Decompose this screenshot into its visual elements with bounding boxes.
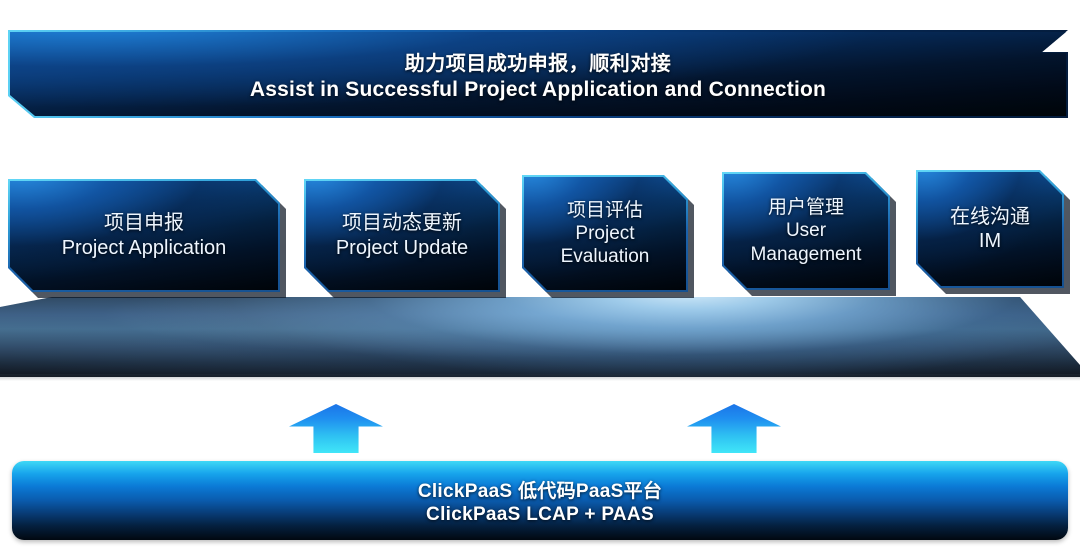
capability-label: 项目动态更新 Project Update <box>304 179 500 292</box>
capability-label: 在线沟通 IM <box>916 170 1064 288</box>
capability-label-cn: 用户管理 <box>768 196 844 219</box>
capability-label-cn: 项目申报 <box>104 211 184 235</box>
capability-label-en: Project <box>575 222 634 245</box>
capability-label-cn: 在线沟通 <box>950 205 1030 229</box>
banner-title-en: Assist in Successful Project Application… <box>250 78 826 102</box>
capability-box-project-update[interactable]: 项目动态更新 Project Update <box>304 179 500 292</box>
capability-label: 项目申报 Project Application <box>8 179 280 292</box>
capability-label-cn: 项目评估 <box>567 199 643 222</box>
slide-canvas: 助力项目成功申报，顺利对接 Assist in Successful Proje… <box>0 0 1080 553</box>
up-arrow-icon-right <box>687 404 781 453</box>
footer-title-cn: ClickPaaS 低代码PaaS平台 <box>418 476 662 503</box>
up-arrow-icon-left <box>289 404 383 453</box>
capability-label-en: User <box>786 219 826 242</box>
banner-text-group: 助力项目成功申报，顺利对接 Assist in Successful Proje… <box>8 30 1068 118</box>
platform-shadow <box>0 374 1080 381</box>
capability-label-en2: Evaluation <box>561 245 650 268</box>
capability-box-project-evaluation[interactable]: 项目评估 Project Evaluation <box>522 175 688 292</box>
footer-text-group: ClickPaaS 低代码PaaS平台 ClickPaaS LCAP + PAA… <box>12 461 1068 540</box>
header-banner: 助力项目成功申报，顺利对接 Assist in Successful Proje… <box>8 30 1068 118</box>
capability-box-user-management[interactable]: 用户管理 User Management <box>722 172 890 290</box>
capability-label-en: IM <box>979 229 1001 253</box>
capability-label-en: Project Application <box>62 236 227 260</box>
capability-label: 项目评估 Project Evaluation <box>522 175 688 292</box>
capability-label-en: Project Update <box>336 236 468 260</box>
capability-box-project-application[interactable]: 项目申报 Project Application <box>8 179 280 292</box>
capability-label-cn: 项目动态更新 <box>342 211 462 235</box>
banner-title-cn: 助力项目成功申报，顺利对接 <box>405 47 672 76</box>
platform-footer-bar[interactable]: ClickPaaS 低代码PaaS平台 ClickPaaS LCAP + PAA… <box>12 461 1068 540</box>
capability-box-im[interactable]: 在线沟通 IM <box>916 170 1064 288</box>
capability-label: 用户管理 User Management <box>722 172 890 290</box>
platform-slab <box>0 297 1080 377</box>
footer-title-en: ClickPaaS LCAP + PAAS <box>426 504 654 526</box>
capability-label-en2: Management <box>751 243 862 266</box>
